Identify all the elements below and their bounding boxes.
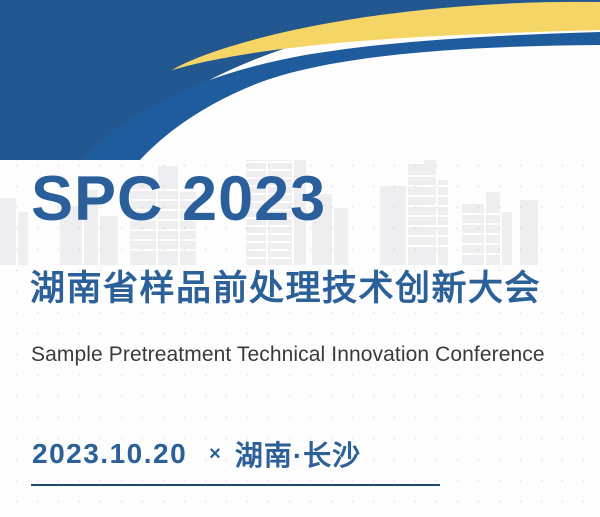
event-location: 湖南·长沙 xyxy=(235,434,361,474)
poster-content: SPC 2023 湖南省样品前处理技术创新大会 Sample Pretreatm… xyxy=(0,0,600,517)
divider-rule xyxy=(31,484,440,486)
meta-separator-icon: × xyxy=(209,443,221,466)
page-title: SPC 2023 xyxy=(31,168,326,231)
event-meta-row: 2023.10.20 × 湖南·长沙 xyxy=(32,434,361,474)
title-chinese: 湖南省样品前处理技术创新大会 xyxy=(30,268,541,310)
event-date: 2023.10.20 xyxy=(32,438,187,470)
conference-poster: SPC 2023 湖南省样品前处理技术创新大会 Sample Pretreatm… xyxy=(0,0,600,517)
title-english: Sample Pretreatment Technical Innovation… xyxy=(31,342,545,367)
